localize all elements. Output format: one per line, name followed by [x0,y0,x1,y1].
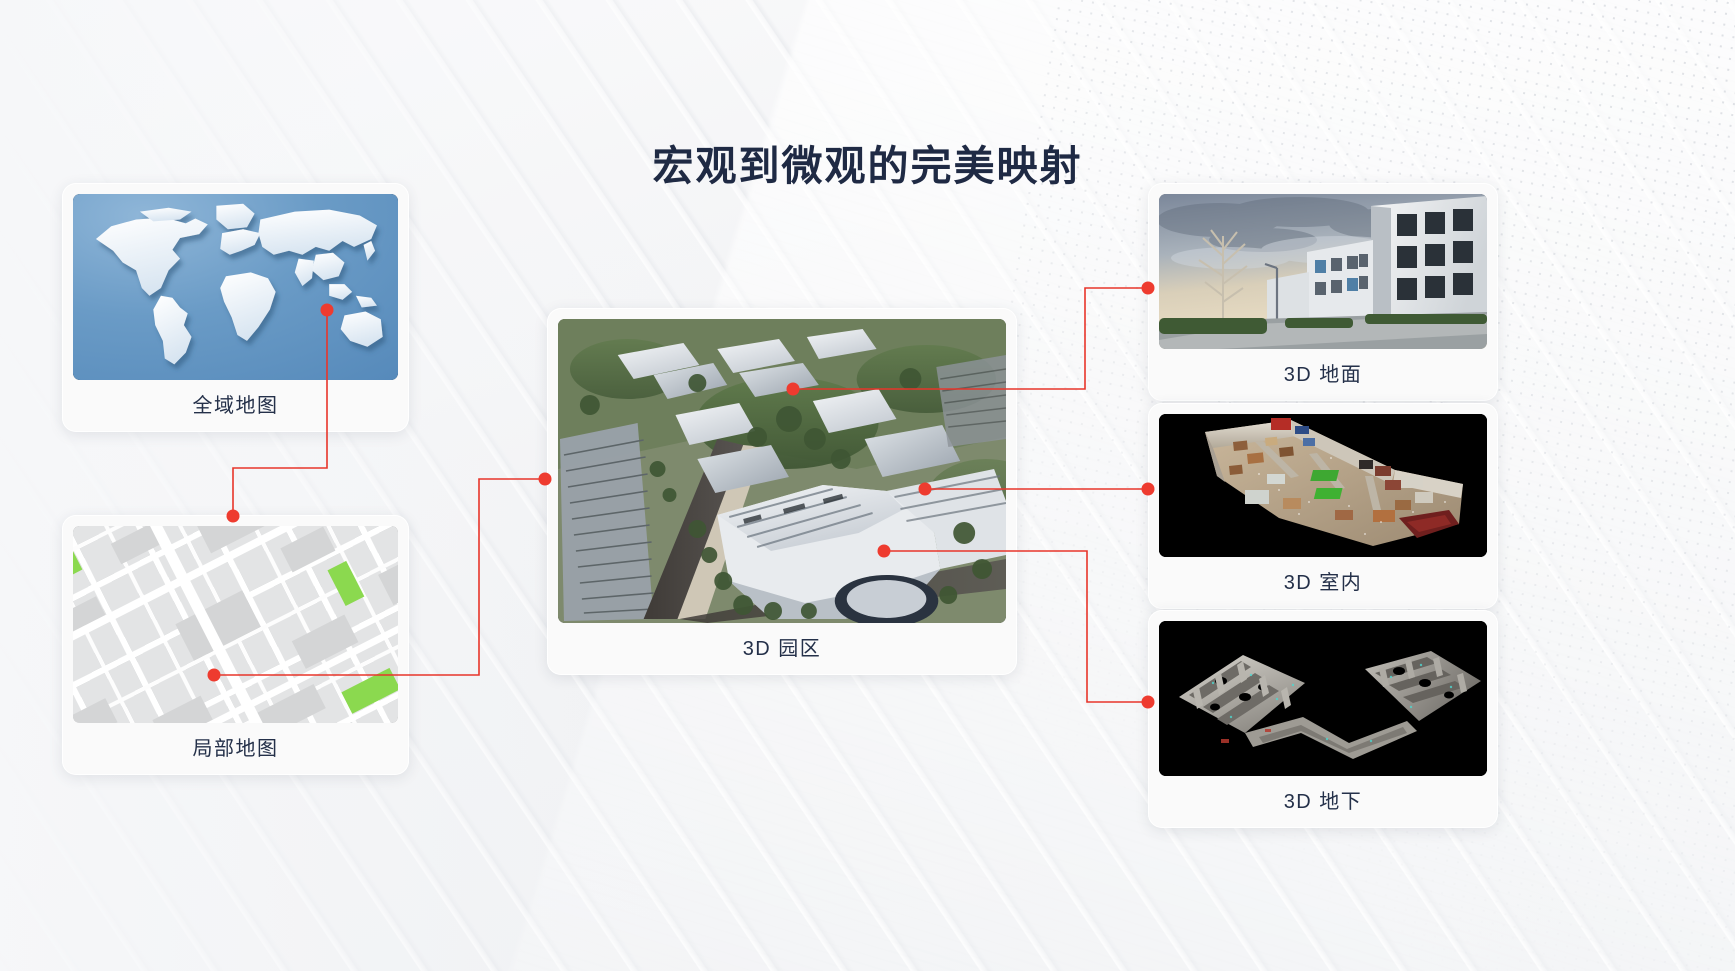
card-label-campus-3d: 3D 园区 [558,623,1006,675]
thumbnail-underground-mesh[interactable] [1159,621,1487,776]
indoor-mesh-icon [1159,414,1487,557]
card-label-ground-3d: 3D 地面 [1159,349,1487,401]
world-map-icon [73,194,398,380]
card-underground-3d[interactable]: 3D 地下 [1148,610,1498,828]
card-label-local-map: 局部地图 [73,723,398,775]
card-label-global-map: 全域地图 [73,380,398,432]
street-map-icon [73,526,398,723]
underground-mesh-icon [1159,621,1487,776]
aerial-campus-icon [558,319,1006,623]
card-label-indoor-3d: 3D 室内 [1159,557,1487,609]
card-campus-3d[interactable]: 3D 园区 [547,308,1017,675]
card-indoor-3d[interactable]: 3D 室内 [1148,403,1498,609]
card-global-map[interactable]: 全域地图 [62,183,409,432]
thumbnail-global-map[interactable] [73,194,398,380]
thumbnail-campus-aerial[interactable] [558,319,1006,623]
thumbnail-indoor-mesh[interactable] [1159,414,1487,557]
page-canvas: 宏观到微观的完美映射 [0,0,1735,971]
thumbnail-building-exterior[interactable] [1159,194,1487,349]
card-local-map[interactable]: 局部地图 [62,515,409,775]
thumbnail-local-map[interactable] [73,526,398,723]
building-exterior-icon [1159,194,1487,349]
card-label-underground-3d: 3D 地下 [1159,776,1487,828]
card-ground-3d[interactable]: 3D 地面 [1148,183,1498,401]
page-title: 宏观到微观的完美映射 [0,141,1735,192]
